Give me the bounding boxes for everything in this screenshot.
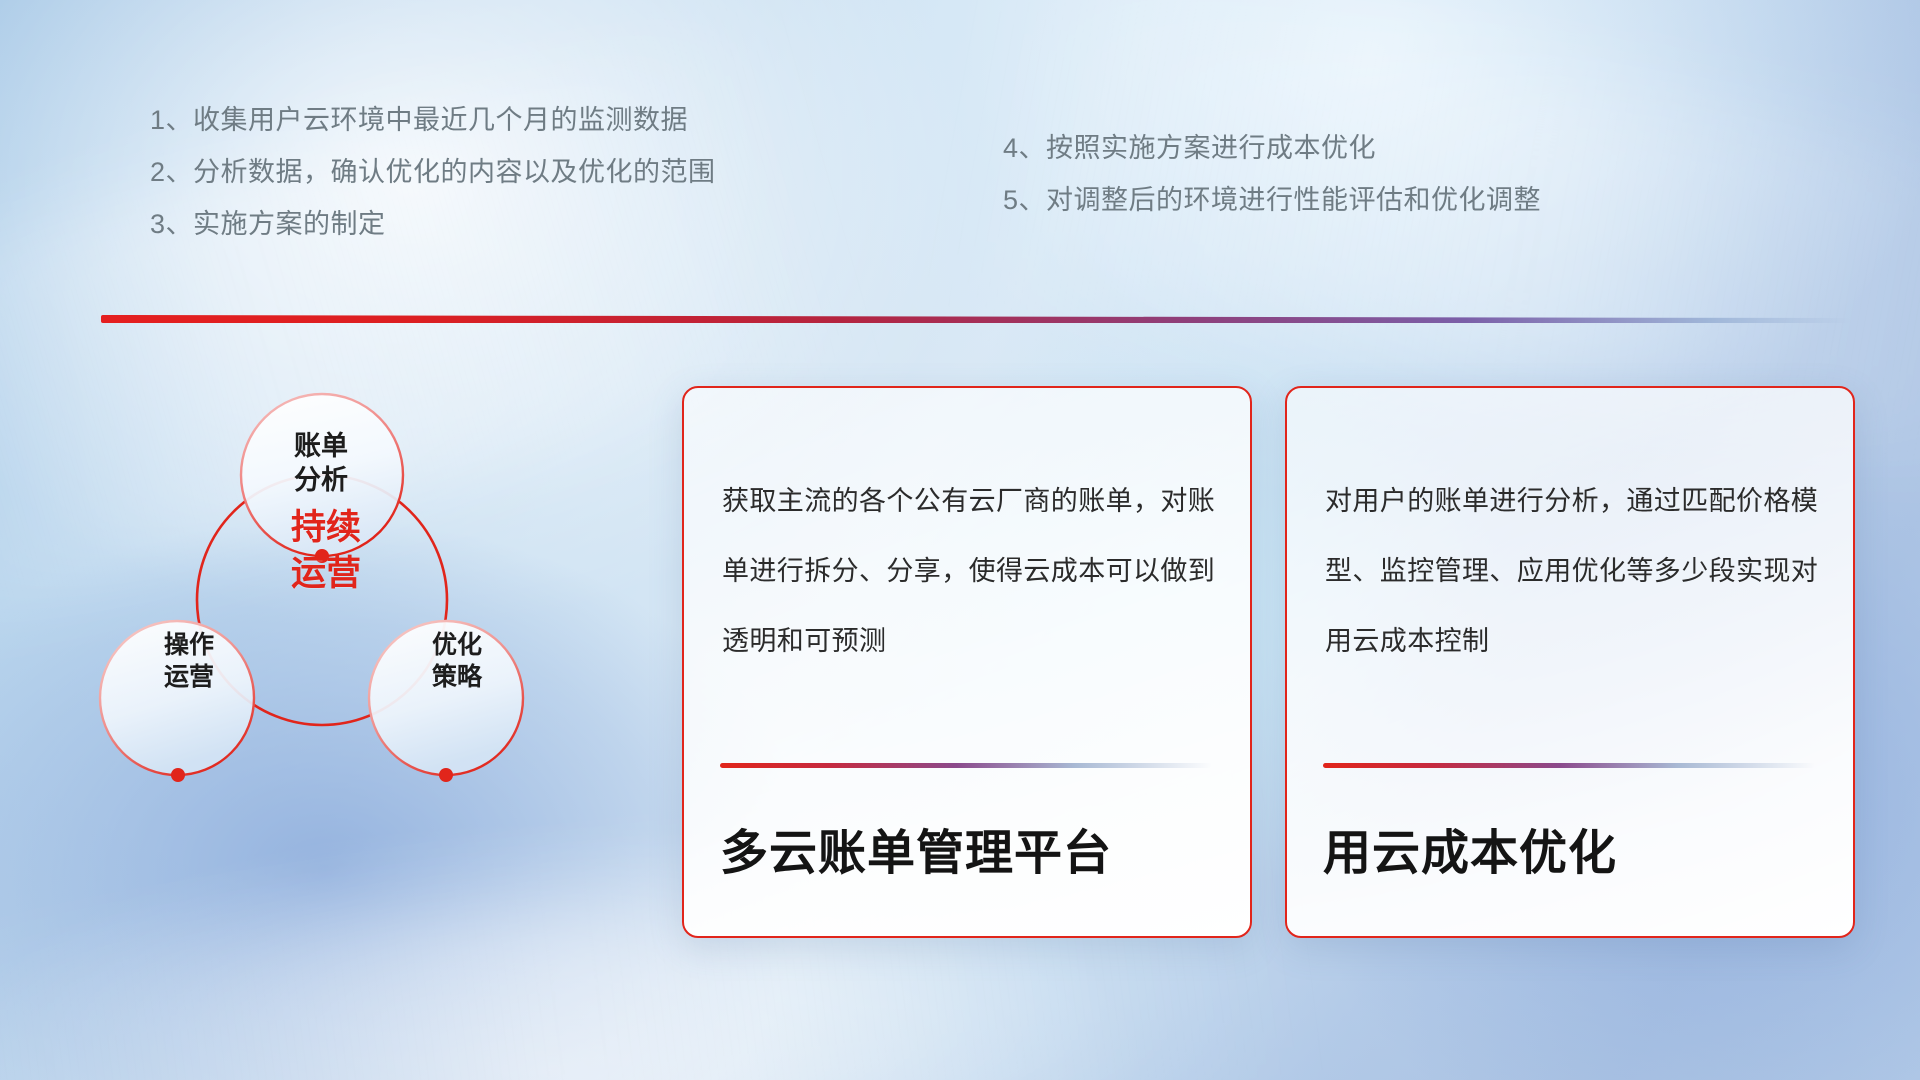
section-divider	[101, 315, 1850, 323]
venn-label-ops: 操作 运营	[114, 630, 264, 693]
card-body-text: 获取主流的各个公有云厂商的账单，对账单进行拆分、分享，使得云成本可以做到透明和可…	[722, 466, 1220, 676]
steps-list-right: 4、按照实施方案进行成本优化 5、对调整后的环境进行性能评估和优化调整	[1003, 122, 1541, 226]
venn-label-bill: 账单 分析	[246, 429, 396, 497]
steps-list-left: 1、收集用户云环境中最近几个月的监测数据 2、分析数据，确认优化的内容以及优化的…	[150, 94, 716, 250]
card-body-text: 对用户的账单进行分析，通过匹配价格模型、监控管理、应用优化等多少段实现对用云成本…	[1325, 466, 1823, 676]
info-card-billing-platform[interactable]: 获取主流的各个公有云厂商的账单，对账单进行拆分、分享，使得云成本可以做到透明和可…	[682, 386, 1252, 938]
step-item-1: 1、收集用户云环境中最近几个月的监测数据	[150, 94, 716, 146]
slide-canvas: 1、收集用户云环境中最近几个月的监测数据 2、分析数据，确认优化的内容以及优化的…	[0, 0, 1920, 1080]
card-accent-rule	[1323, 763, 1815, 768]
step-item-4: 4、按照实施方案进行成本优化	[1003, 122, 1541, 174]
venn-label-strategy: 优化 策略	[382, 630, 532, 693]
step-item-2: 2、分析数据，确认优化的内容以及优化的范围	[150, 146, 716, 198]
divider-bar	[101, 315, 1850, 323]
step-item-5: 5、对调整后的环境进行性能评估和优化调整	[1003, 174, 1541, 226]
step-item-3: 3、实施方案的制定	[150, 198, 716, 250]
venn-diagram: 账单 分析 操作 运营 优化 策略 持续 运营	[96, 355, 556, 835]
venn-node-left	[171, 768, 185, 782]
card-accent-rule	[720, 763, 1212, 768]
card-title: 多云账单管理平台	[720, 813, 1112, 883]
card-title: 用云成本优化	[1323, 813, 1617, 883]
venn-node-right	[439, 768, 453, 782]
info-card-cost-optimization[interactable]: 对用户的账单进行分析，通过匹配价格模型、监控管理、应用优化等多少段实现对用云成本…	[1285, 386, 1855, 938]
venn-label-center: 持续 运营	[246, 505, 406, 596]
